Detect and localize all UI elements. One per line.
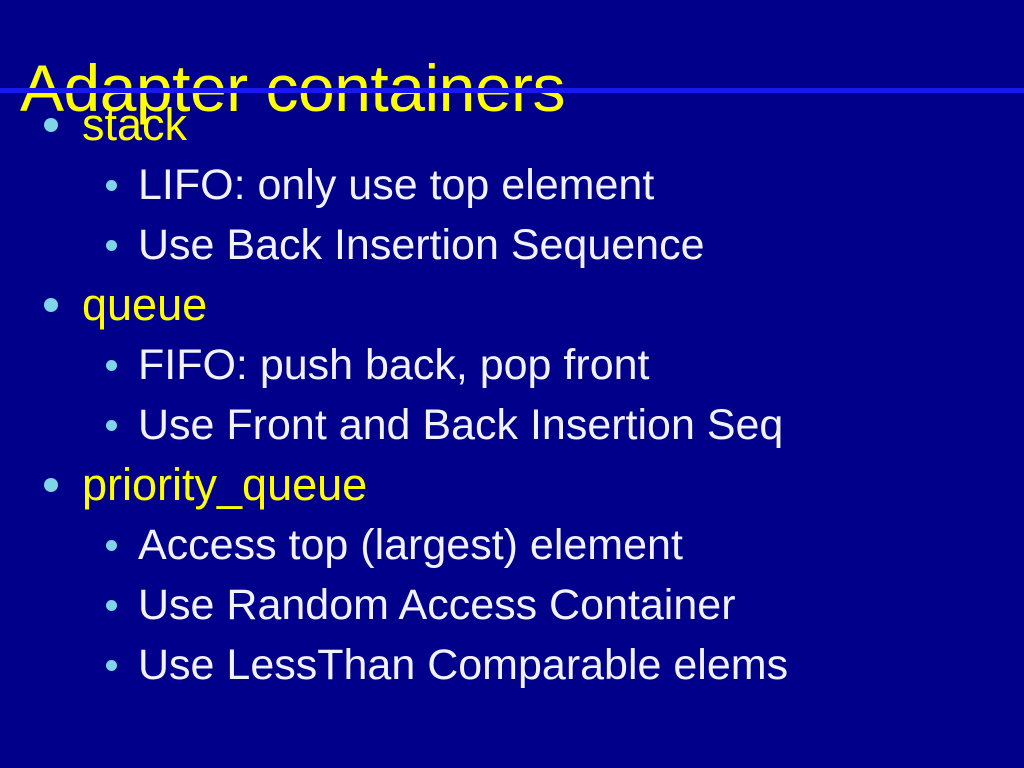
outline-item-level2: FIFO: push back, pop front [0,335,1024,395]
title-divider-rule [0,88,1024,93]
outline-item-label: Use LessThan Comparable elems [138,641,788,689]
bullet-dot-icon [106,540,117,551]
outline-item-level2: Use Random Access Container [0,575,1024,635]
outline-item-level2: Use Front and Back Insertion Seq [0,395,1024,455]
outline-item-label: FIFO: push back, pop front [138,341,649,389]
bullet-dot-icon [106,420,117,431]
bullet-dot-icon [106,600,117,611]
bullet-dot-icon [44,118,58,132]
outline-item-label: queue [82,279,207,330]
bullet-dot-icon [106,240,117,251]
slide-body-outline: stack LIFO: only use top element Use Bac… [0,95,1024,768]
bullet-dot-icon [106,660,117,671]
outline-item-level1: queue [0,275,1024,335]
outline-item-label: LIFO: only use top element [138,161,654,209]
outline-item-level2: Use LessThan Comparable elems [0,635,1024,695]
title-band: Adapter containers [0,0,1024,88]
outline-item-level1: priority_queue [0,455,1024,515]
outline-item-label: Use Random Access Container [138,581,736,629]
outline-item-level1: stack [0,95,1024,155]
outline-item-label: Access top (largest) element [138,521,683,569]
outline-item-level2: Access top (largest) element [0,515,1024,575]
outline-item-label: Use Front and Back Insertion Seq [138,401,783,449]
outline-item-label: stack [82,99,187,150]
bullet-dot-icon [106,360,117,371]
presentation-slide: Adapter containers stack LIFO: only use … [0,0,1024,768]
bullet-dot-icon [44,478,58,492]
outline-item-level2: LIFO: only use top element [0,155,1024,215]
bullet-dot-icon [44,298,58,312]
outline-item-level2: Use Back Insertion Sequence [0,215,1024,275]
outline-item-label: priority_queue [82,459,367,510]
bullet-dot-icon [106,180,117,191]
outline-item-label: Use Back Insertion Sequence [138,221,705,269]
